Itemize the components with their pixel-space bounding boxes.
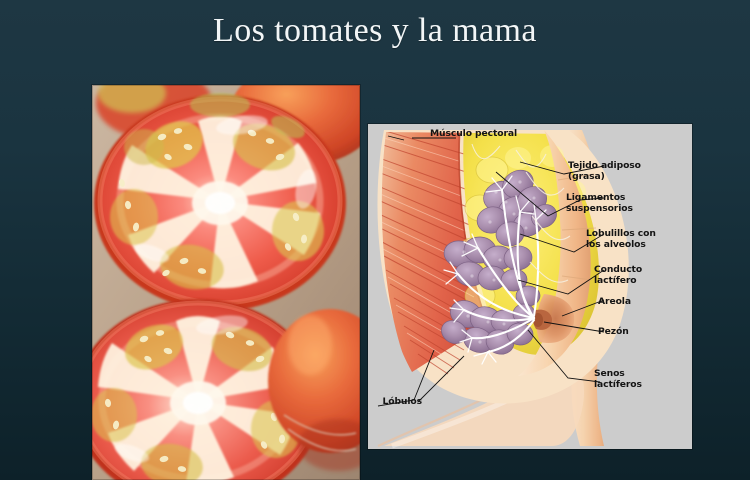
tomato-cross-section-photo [92,85,360,480]
slide-canvas: Los tomates y la mama [0,0,750,480]
breast-anatomy-diagram: Músculo pectoral Tejido adiposo (grasa) … [368,124,692,449]
page-title: Los tomates y la mama [0,10,750,52]
breast-anatomy-graphic [368,124,692,449]
tomato-photo-graphic [92,85,360,480]
